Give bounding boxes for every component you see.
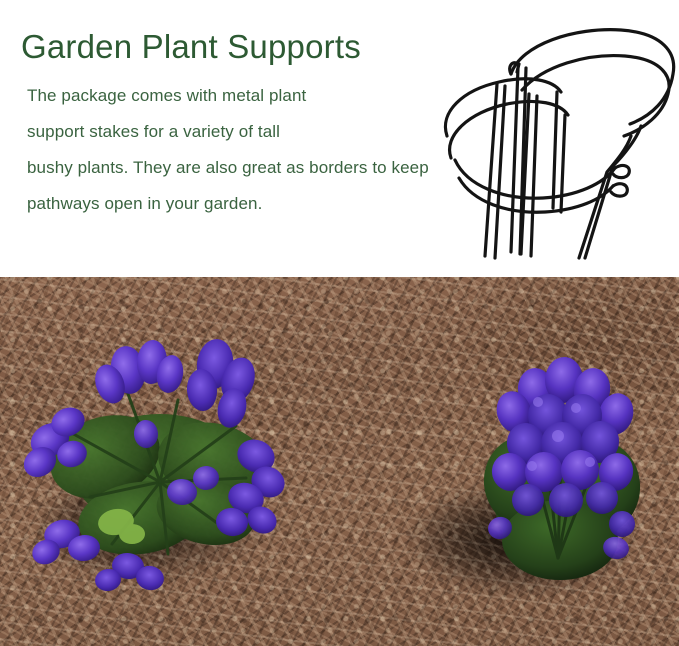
info-panel: Garden Plant Supports The package comes … bbox=[0, 0, 679, 277]
plant-before-unsupported bbox=[10, 322, 300, 612]
page-title: Garden Plant Supports bbox=[21, 26, 361, 68]
product-infographic: Garden Plant Supports The package comes … bbox=[0, 0, 679, 646]
plant-after-supported bbox=[440, 332, 679, 592]
garden-photo bbox=[0, 277, 679, 646]
wire-plant-support-illustration bbox=[425, 8, 679, 260]
